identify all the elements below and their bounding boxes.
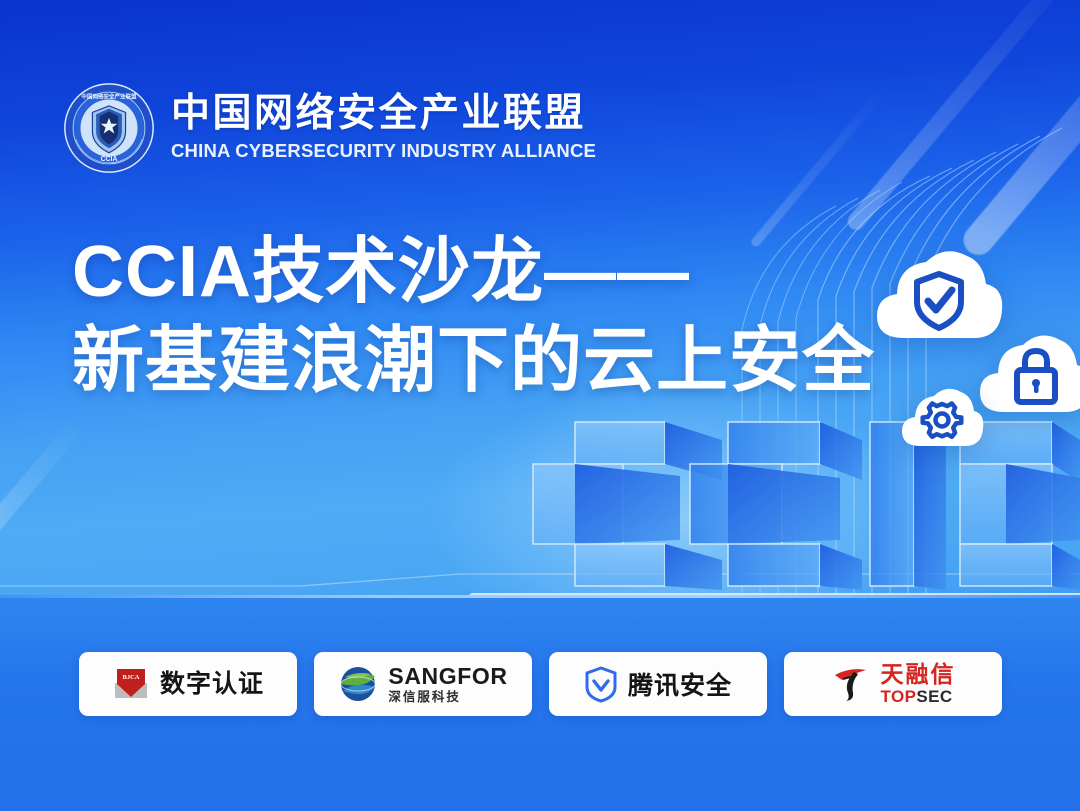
wordmark-letter-c1 <box>533 422 722 590</box>
sponsor-footer: BJCA 数字认证 SANGFOR 深信服科技 <box>0 595 1080 811</box>
wordmark-letter-c2 <box>690 422 862 590</box>
sponsor-list: BJCA 数字认证 SANGFOR 深信服科技 <box>0 652 1080 716</box>
sponsor-name-bjca: 数字认证 <box>160 672 264 697</box>
light-streak-icon <box>0 484 21 605</box>
footer-divider <box>0 595 1080 598</box>
sponsor-name-topsec-cn: 天融信 <box>881 663 956 686</box>
sponsor-card-bjca[interactable]: BJCA 数字认证 <box>79 652 297 716</box>
cloud-gear <box>898 382 986 452</box>
topsec-en-sec: SEC <box>916 687 952 706</box>
light-streak-icon <box>844 0 1080 233</box>
bjca-red-shield-icon: BJCA <box>111 664 151 704</box>
sponsor-name-tencent: 腾讯安全 <box>628 666 732 702</box>
headline-line-1: CCIA技术沙龙—— <box>72 228 875 317</box>
brand-name-cn: 中国网络安全产业联盟 <box>171 93 596 135</box>
event-poster: 中国网络安全产业联盟 CCIA 中国网络安全产业联盟 CHINA CYBERSE… <box>0 0 1080 811</box>
sponsor-name-sangfor-en: SANGFOR <box>388 665 507 688</box>
sponsor-name-topsec: 天融信 TOPSEC <box>881 663 956 705</box>
tencent-shield-icon <box>583 664 619 704</box>
sponsor-name-topsec-en: TOPSEC <box>881 688 956 705</box>
sponsor-card-topsec[interactable]: 天融信 TOPSEC <box>784 652 1002 716</box>
ccia-circular-shield-emblem-icon: 中国网络安全产业联盟 CCIA <box>63 82 155 174</box>
sponsor-card-tencent-security[interactable]: 腾讯安全 <box>549 652 767 716</box>
light-streak-icon <box>0 417 86 573</box>
brand-lockup: 中国网络安全产业联盟 CCIA 中国网络安全产业联盟 CHINA CYBERSE… <box>63 82 596 174</box>
sangfor-globe-icon <box>337 663 379 705</box>
svg-text:中国网络安全产业联盟: 中国网络安全产业联盟 <box>81 93 137 101</box>
sponsor-name-sangfor: SANGFOR 深信服科技 <box>388 665 507 704</box>
topsec-swoosh-icon <box>830 663 872 705</box>
cloud-lock <box>975 326 1080 420</box>
svg-text:BJCA: BJCA <box>122 674 139 681</box>
light-streak-icon <box>957 0 1080 261</box>
light-streak-icon <box>750 82 892 249</box>
gear-icon <box>898 382 986 452</box>
brand-name-en: CHINA CYBERSECURITY INDUSTRY ALLIANCE <box>171 140 596 162</box>
sponsor-name-sangfor-cn: 深信服科技 <box>388 691 507 704</box>
lock-icon <box>975 326 1080 420</box>
poster-headline: CCIA技术沙龙—— 新基建浪潮下的云上安全 <box>72 228 875 407</box>
topsec-en-top: TOP <box>881 687 917 706</box>
sponsor-card-sangfor[interactable]: SANGFOR 深信服科技 <box>314 652 532 716</box>
headline-line-2: 新基建浪潮下的云上安全 <box>72 317 875 406</box>
